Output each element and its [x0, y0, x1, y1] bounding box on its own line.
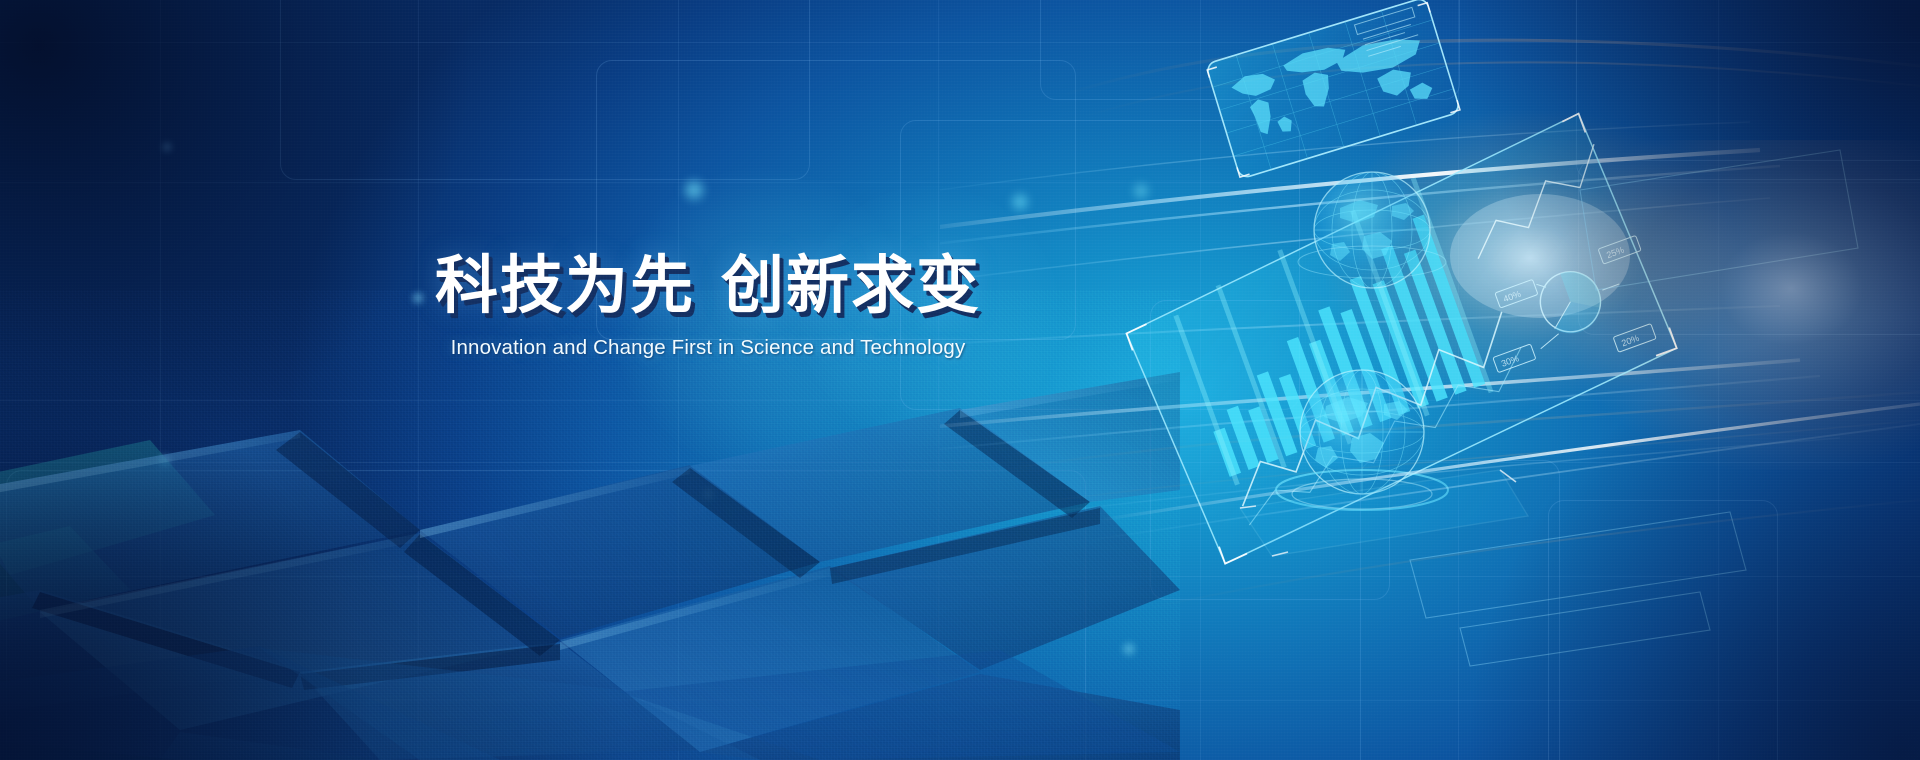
chart-hud-panel: 40% 30% 25% 20% [1109, 110, 1693, 569]
globe-wireframe-lower [1240, 370, 1528, 556]
svg-text:25%: 25% [1605, 245, 1625, 261]
bottom-left-shade [0, 430, 620, 760]
bar-chart-hud-panel [1168, 215, 1485, 477]
technical-grid-lines [0, 0, 1920, 760]
tech-banner: 40% 30% 25% 20% [0, 0, 1920, 760]
pie-chart-hud-panel: 40% 30% 25% 20% [1470, 235, 1671, 393]
grid-rounded-rect-1 [1040, 0, 1460, 100]
svg-text:20%: 20% [1620, 333, 1640, 349]
grid-rounded-rect-2 [1576, 0, 1920, 180]
grid-rounded-rect-9 [1548, 500, 1778, 760]
bokeh-glow-8 [156, 452, 174, 470]
lens-flare-glow [1560, 140, 1920, 470]
grid-rounded-rect-10 [1150, 300, 1390, 600]
page-subtitle: Innovation and Change First in Science a… [388, 336, 1028, 360]
bokeh-glow-9 [1120, 640, 1138, 658]
svg-text:40%: 40% [1502, 289, 1522, 305]
bokeh-glow-6 [160, 140, 174, 154]
vignette-overlay [0, 0, 1920, 760]
polygon-noise-texture [0, 290, 1180, 760]
page-title: 科技为先创新求变 [388, 252, 1028, 320]
world-map-hud-panel [1205, 0, 1460, 179]
headline-part-2: 创新求变 [721, 251, 981, 321]
svg-text:30%: 30% [1500, 353, 1520, 369]
bokeh-glow-5 [1130, 180, 1152, 202]
grid-rounded-rect-3 [1578, 160, 1920, 335]
bokeh-glow-3 [680, 176, 708, 204]
grid-rounded-rect-8 [1360, 460, 1560, 760]
grid-rounded-rect-7 [6, 470, 1086, 760]
headline-part-1: 科技为先 [435, 251, 695, 321]
globe-wireframe-upper [1298, 172, 1446, 288]
line-chart-hud-panel [1210, 310, 1546, 525]
bokeh-glow-4 [1008, 190, 1032, 214]
bokeh-glow-10 [700, 486, 716, 502]
dust-speckle-overlay [0, 0, 1920, 760]
banner-text-block: 科技为先创新求变 Innovation and Change First in … [388, 252, 1028, 360]
tech-hud-graphics: 40% 30% 25% 20% [940, 0, 1920, 760]
isometric-polygon-ground [0, 290, 1180, 760]
grid-rounded-rect-4 [280, 0, 810, 180]
